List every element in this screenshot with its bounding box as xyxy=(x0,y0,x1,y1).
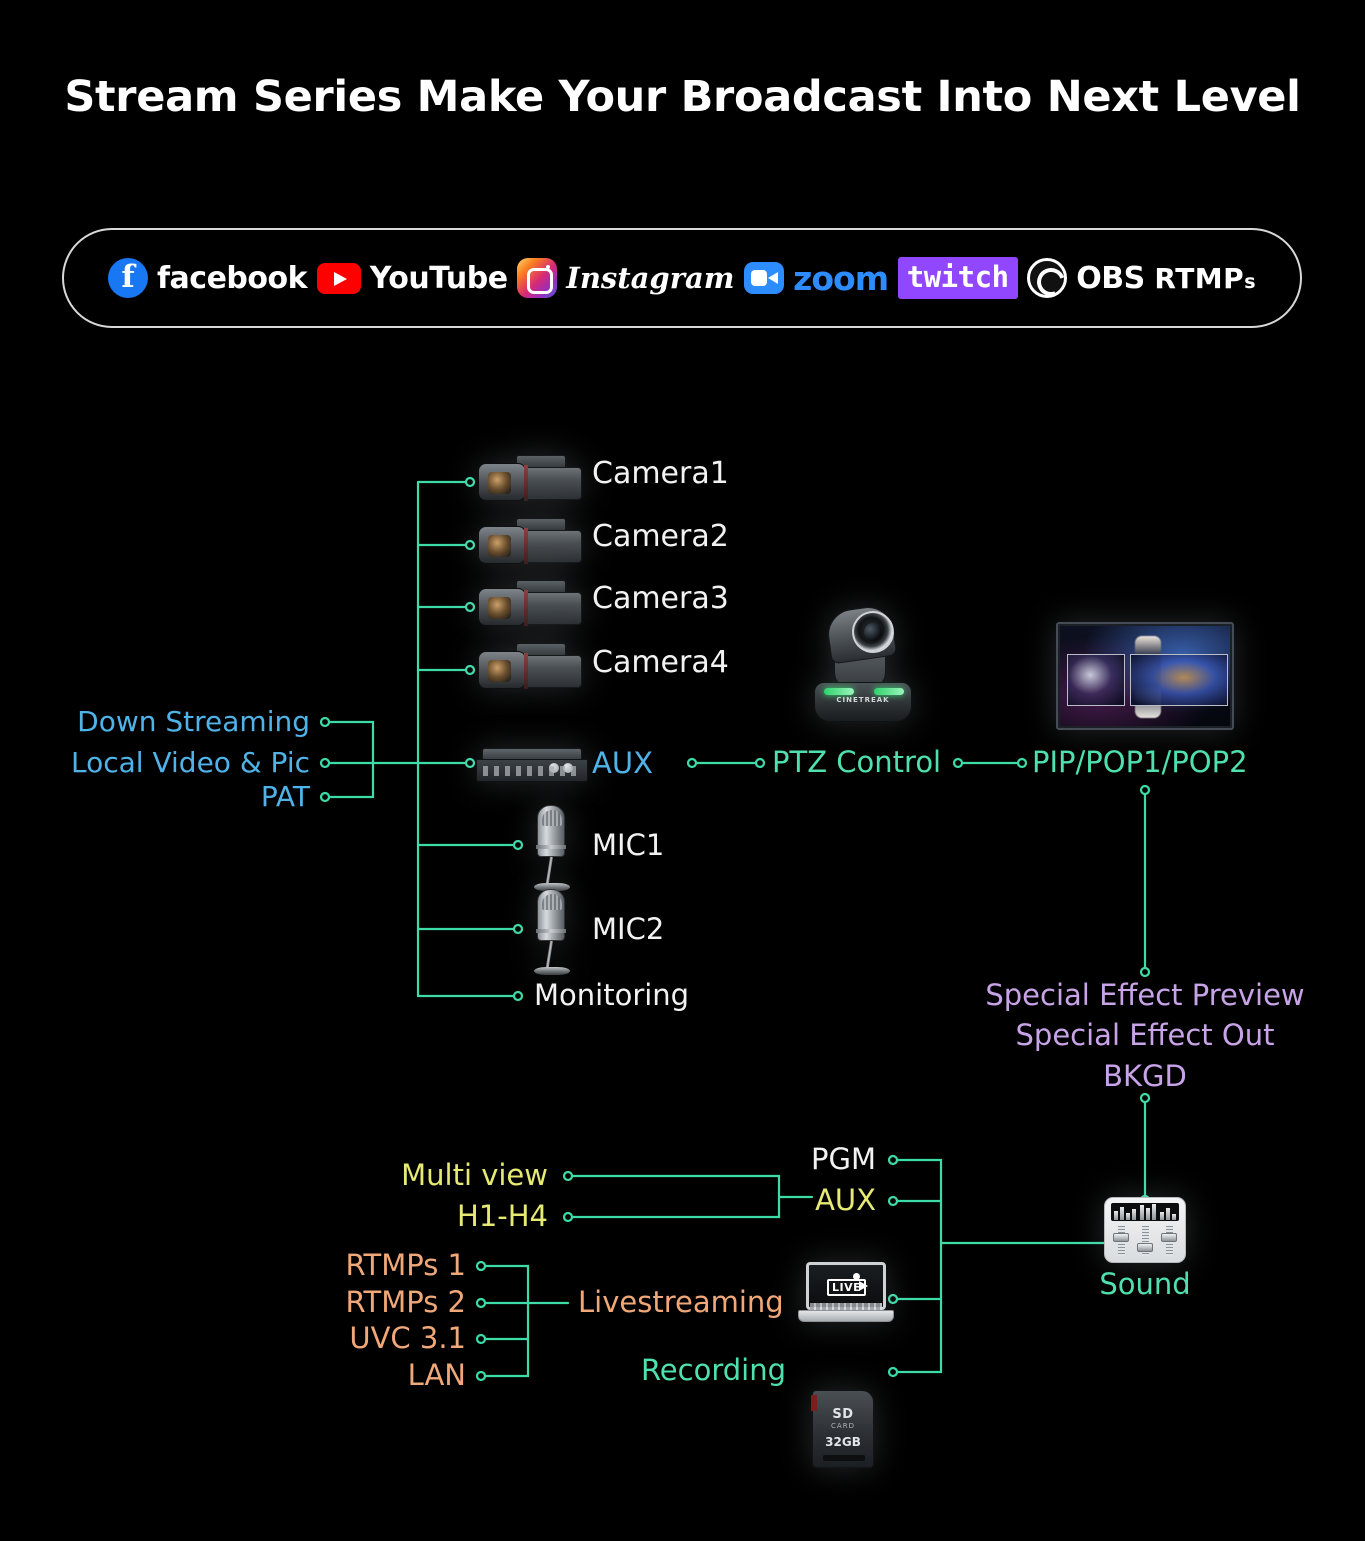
label-mic-2: MIC2 xyxy=(592,915,664,944)
instagram-label: Instagram xyxy=(566,261,734,295)
label-special-effect-out: Special Effect Out xyxy=(1016,1021,1275,1050)
label-local-video-pic: Local Video & Pic xyxy=(71,749,310,777)
laptop-device: LIVE xyxy=(798,1262,894,1332)
sd-label: SD xyxy=(813,1407,873,1422)
label-pat: PAT xyxy=(261,783,310,811)
camcorder-3 xyxy=(478,580,582,632)
label-camera-3: Camera3 xyxy=(592,584,729,614)
youtube-icon xyxy=(317,263,361,294)
label-rtmps-1: RTMPs 1 xyxy=(345,1251,466,1280)
obs-icon xyxy=(1027,258,1067,298)
label-lan: LAN xyxy=(408,1361,466,1390)
sd-card-device: SD CARD 32GB xyxy=(812,1390,874,1468)
rtmps-label: RTMP xyxy=(1154,262,1244,295)
label-down-streaming: Down Streaming xyxy=(77,708,310,736)
microphone-2 xyxy=(528,889,576,981)
label-rtmps-2: RTMPs 2 xyxy=(345,1288,466,1317)
sd-capacity-label: 32GB xyxy=(813,1435,873,1449)
instagram-icon xyxy=(517,258,557,298)
label-mic-1: MIC1 xyxy=(592,831,664,860)
label-bkgd: BKGD xyxy=(1103,1062,1187,1091)
camcorder-1 xyxy=(478,455,582,507)
label-ptz-control: PTZ Control xyxy=(772,748,941,777)
label-pgm: PGM xyxy=(811,1145,876,1174)
twitch-icon: twitch xyxy=(898,257,1018,299)
platform-youtube[interactable]: YouTube xyxy=(317,254,508,302)
pip-monitor-device xyxy=(1056,622,1234,730)
platform-obs[interactable]: OBS xyxy=(1027,254,1144,302)
label-aux-output: AUX xyxy=(815,1186,876,1215)
ptz-camera-device: CINETREAK xyxy=(808,608,920,726)
page-title: Stream Series Make Your Broadcast Into N… xyxy=(0,72,1365,122)
label-pip-pop: PIP/POP1/POP2 xyxy=(1032,748,1248,777)
facebook-icon xyxy=(108,258,148,298)
platform-instagram[interactable]: Instagram xyxy=(517,254,734,302)
microphone-1 xyxy=(528,805,576,897)
platform-facebook[interactable]: facebook xyxy=(108,254,307,302)
camcorder-4 xyxy=(478,643,582,695)
sd-sub-label: CARD xyxy=(813,1422,873,1430)
label-monitoring: Monitoring xyxy=(534,981,689,1010)
obs-label: OBS xyxy=(1076,261,1144,296)
platform-twitch[interactable]: twitch xyxy=(898,254,1018,302)
label-special-effect-preview: Special Effect Preview xyxy=(985,981,1304,1010)
sound-mixer-device xyxy=(1104,1197,1186,1263)
label-camera-1: Camera1 xyxy=(592,459,729,489)
infographic-page: Stream Series Make Your Broadcast Into N… xyxy=(0,0,1365,1541)
facebook-label: facebook xyxy=(157,261,307,296)
label-sound: Sound xyxy=(1099,1270,1190,1299)
aux-controller-device xyxy=(476,748,588,782)
label-camera-2: Camera2 xyxy=(592,522,729,552)
youtube-label: YouTube xyxy=(370,261,508,296)
label-h1-h4: H1-H4 xyxy=(457,1202,548,1231)
label-recording: Recording xyxy=(641,1356,786,1385)
zoom-label: zoom xyxy=(793,259,888,298)
label-multi-view: Multi view xyxy=(401,1161,548,1190)
label-uvc-31: UVC 3.1 xyxy=(349,1324,466,1353)
zoom-icon xyxy=(744,262,784,294)
platform-rtmps[interactable]: RTMPs xyxy=(1154,254,1256,302)
platform-zoom[interactable]: zoom xyxy=(744,254,888,302)
rtmps-label-sub: s xyxy=(1244,271,1256,293)
platform-logo-bar: facebook YouTube Instagram zoom twitch O… xyxy=(62,228,1302,328)
ptz-brand-label: CINETREAK xyxy=(808,696,918,704)
label-aux-input: AUX xyxy=(592,749,653,778)
label-camera-4: Camera4 xyxy=(592,648,729,678)
camcorder-2 xyxy=(478,518,582,570)
label-livestreaming: Livestreaming xyxy=(578,1288,784,1317)
rtmps-text: RTMPs xyxy=(1154,262,1256,295)
